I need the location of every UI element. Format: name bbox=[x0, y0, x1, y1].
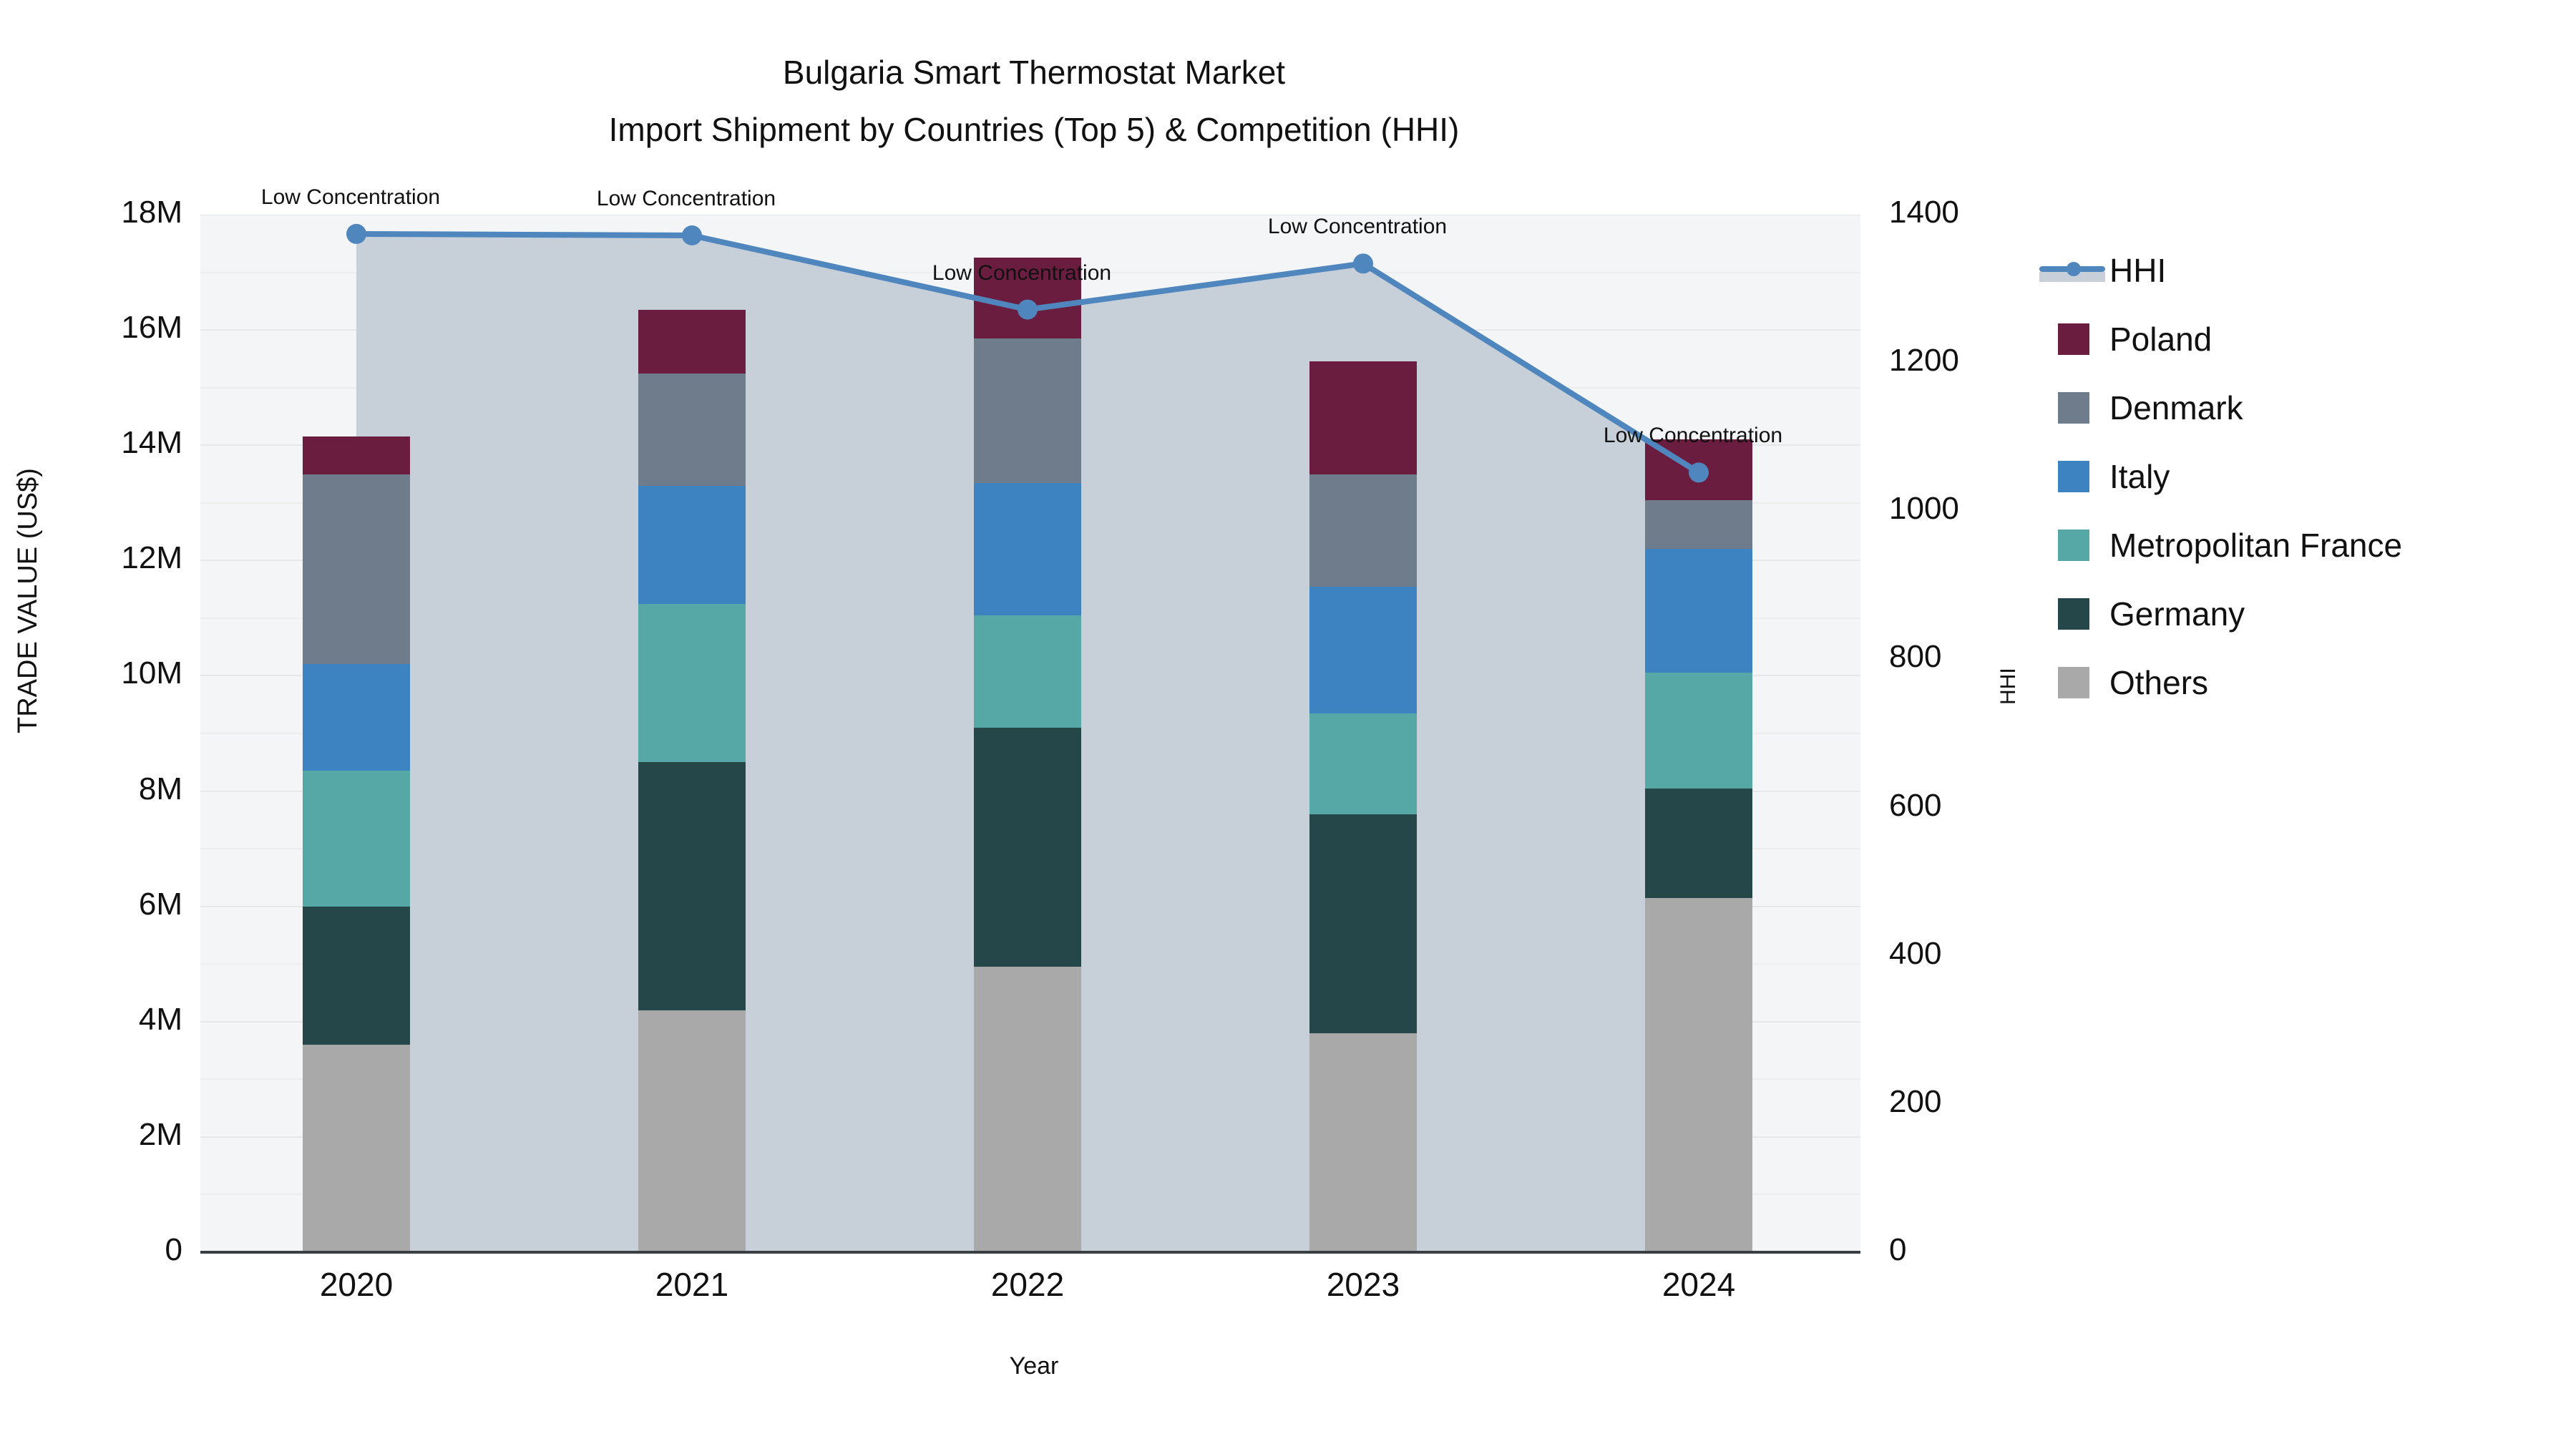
legend-item-label: Denmark bbox=[2109, 389, 2243, 427]
chart-title-line-2: Import Shipment by Countries (Top 5) & C… bbox=[0, 113, 2068, 146]
y-axis-right-tick-label: 1200 bbox=[1889, 343, 1959, 379]
legend-item-label: Germany bbox=[2109, 595, 2245, 633]
y-axis-left-tick-label: 16M bbox=[29, 310, 182, 346]
concentration-annotation: Low Concentration bbox=[1604, 424, 1782, 448]
concentration-annotation: Low Concentration bbox=[932, 261, 1111, 286]
y-axis-right-tick-label: 1000 bbox=[1889, 491, 1959, 527]
y-axis-right-tick-label: 0 bbox=[1889, 1232, 1906, 1268]
x-axis-tick-label: 2024 bbox=[1591, 1265, 1806, 1304]
y-axis-right-tick-label: 400 bbox=[1889, 936, 1941, 972]
legend-color-swatch bbox=[2058, 461, 2089, 492]
legend-marker-dot bbox=[2067, 262, 2081, 276]
legend-item-label: Metropolitan France bbox=[2109, 526, 2402, 565]
legend-color-swatch bbox=[2058, 323, 2089, 355]
y-axis-left-tick-label: 6M bbox=[29, 887, 182, 922]
legend-item[interactable]: Italy bbox=[2039, 442, 2402, 511]
hhi-line-svg bbox=[200, 215, 1860, 1252]
chart-title-line-1: Bulgaria Smart Thermostat Market bbox=[0, 56, 2068, 89]
y-axis-right-tick-label: 800 bbox=[1889, 639, 1941, 675]
y-axis-right-tick-label: 200 bbox=[1889, 1084, 1941, 1120]
y-axis-left-tick-label: 4M bbox=[29, 1002, 182, 1038]
legend-item-label: Poland bbox=[2109, 320, 2212, 358]
concentration-annotation: Low Concentration bbox=[261, 185, 440, 210]
y-axis-left-tick-label: 0 bbox=[29, 1232, 182, 1268]
y-axis-right-label: HHI bbox=[1996, 668, 2021, 705]
x-axis-tick-label: 2020 bbox=[249, 1265, 464, 1304]
legend-item-label: Italy bbox=[2109, 457, 2170, 496]
legend-item-label: HHI bbox=[2109, 251, 2166, 290]
legend-line-swatch-icon bbox=[2039, 255, 2105, 286]
y-axis-left-tick-label: 2M bbox=[29, 1117, 182, 1153]
legend-item-label: Others bbox=[2109, 663, 2208, 702]
plot-inner bbox=[200, 215, 1860, 1252]
y-axis-left-tick-label: 12M bbox=[29, 540, 182, 576]
y-axis-right-tick-label: 1400 bbox=[1889, 195, 1959, 230]
plot-area bbox=[200, 215, 1860, 1252]
legend-item[interactable]: Denmark bbox=[2039, 374, 2402, 442]
legend-color-swatch bbox=[2058, 530, 2089, 561]
hhi-data-point[interactable] bbox=[1689, 462, 1709, 482]
legend-color-swatch bbox=[2058, 392, 2089, 424]
x-axis-tick-label: 2021 bbox=[585, 1265, 799, 1304]
legend-color-swatch bbox=[2058, 667, 2089, 698]
hhi-data-point[interactable] bbox=[1018, 300, 1038, 320]
y-axis-left-tick-label: 8M bbox=[29, 771, 182, 807]
hhi-data-point[interactable] bbox=[346, 224, 366, 244]
legend: HHIPolandDenmarkItalyMetropolitan France… bbox=[2039, 236, 2402, 717]
y-axis-right-tick-label: 600 bbox=[1889, 788, 1941, 824]
legend-item[interactable]: Poland bbox=[2039, 305, 2402, 374]
y-axis-left-tick-label: 18M bbox=[29, 195, 182, 230]
concentration-annotation: Low Concentration bbox=[1268, 215, 1447, 239]
legend-color-swatch bbox=[2058, 598, 2089, 630]
concentration-annotation: Low Concentration bbox=[597, 187, 776, 211]
hhi-data-point[interactable] bbox=[1353, 253, 1373, 273]
legend-item[interactable]: Germany bbox=[2039, 580, 2402, 648]
legend-item[interactable]: HHI bbox=[2039, 236, 2402, 305]
y-axis-left-label: TRADE VALUE (US$) bbox=[13, 468, 44, 733]
legend-item[interactable]: Metropolitan France bbox=[2039, 511, 2402, 580]
hhi-data-point[interactable] bbox=[682, 225, 702, 245]
chart-title: Bulgaria Smart Thermostat Market Import … bbox=[0, 56, 2068, 146]
x-axis-label: Year bbox=[0, 1352, 2068, 1380]
x-axis-tick-label: 2023 bbox=[1256, 1265, 1470, 1304]
y-axis-left-tick-label: 14M bbox=[29, 425, 182, 461]
x-axis-tick-label: 2022 bbox=[920, 1265, 1135, 1304]
x-axis-line bbox=[200, 1251, 1860, 1254]
y-axis-left-tick-label: 10M bbox=[29, 655, 182, 691]
legend-item[interactable]: Others bbox=[2039, 648, 2402, 717]
